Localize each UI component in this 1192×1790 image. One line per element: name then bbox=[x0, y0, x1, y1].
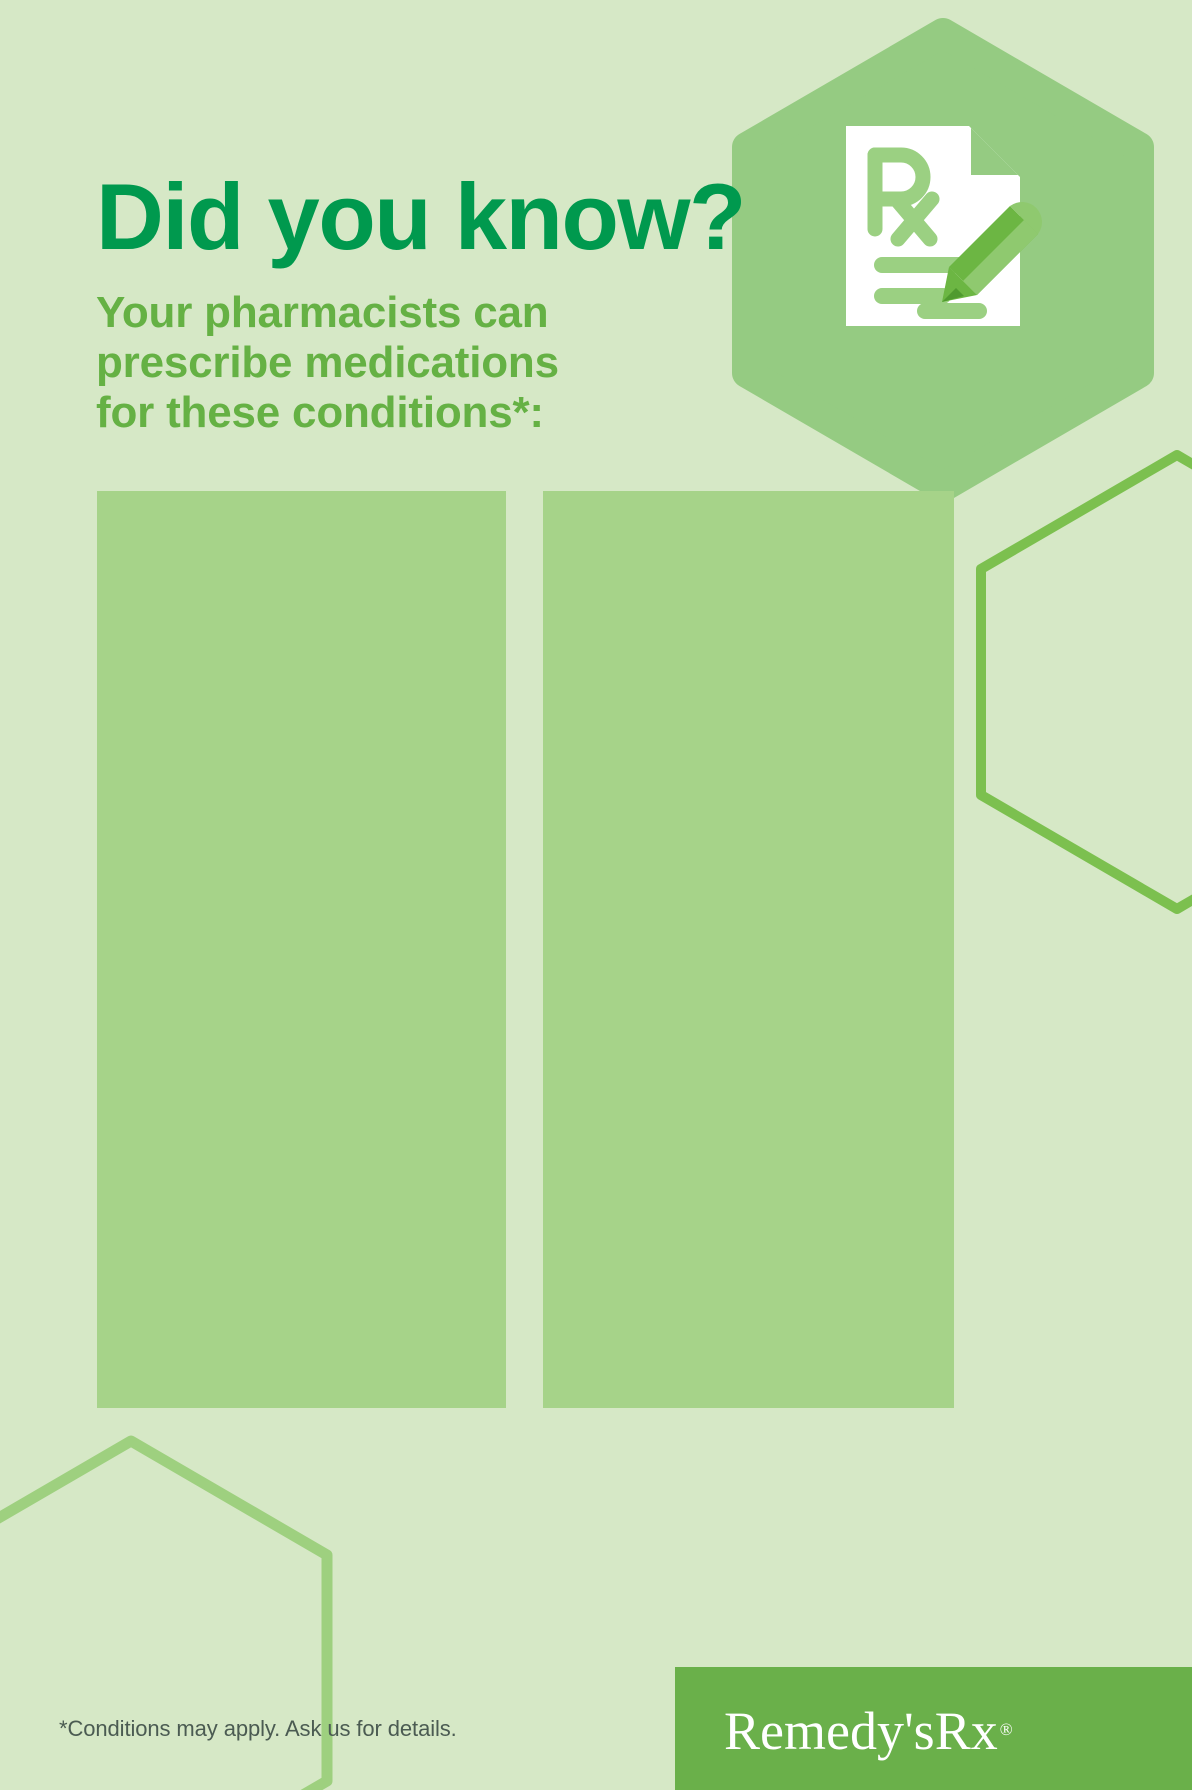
subheadline-line-1: Your pharmacists can bbox=[96, 288, 559, 338]
subheadline-line-2: prescribe medications bbox=[96, 338, 559, 388]
subheadline: Your pharmacists can prescribe medicatio… bbox=[96, 288, 559, 438]
subheadline-line-3: for these conditions*: bbox=[96, 388, 559, 438]
brand-bar: Remedy'sRx® bbox=[675, 1667, 1192, 1790]
prescription-document-with-pencil-icon bbox=[838, 118, 1048, 334]
prescription-icon-container bbox=[838, 118, 1048, 334]
document-folded-corner-icon bbox=[971, 128, 1018, 175]
poster-canvas: Did you know? Your pharmacists can presc… bbox=[0, 0, 1192, 1790]
footnote-disclaimer: *Conditions may apply. Ask us for detail… bbox=[59, 1716, 457, 1742]
conditions-panel-right bbox=[543, 491, 954, 1408]
document-signature-line-icon bbox=[917, 303, 987, 319]
page-title: Did you know? bbox=[96, 170, 745, 264]
brand-name-text: Remedy'sRx bbox=[724, 1701, 998, 1761]
conditions-panel-left bbox=[97, 491, 506, 1408]
registered-trademark-icon: ® bbox=[1000, 1720, 1013, 1739]
hexagon-outline-right-edge bbox=[981, 455, 1192, 909]
remedys-rx-logo: Remedy'sRx® bbox=[724, 1700, 1013, 1762]
document-text-line-2-icon bbox=[874, 288, 951, 304]
